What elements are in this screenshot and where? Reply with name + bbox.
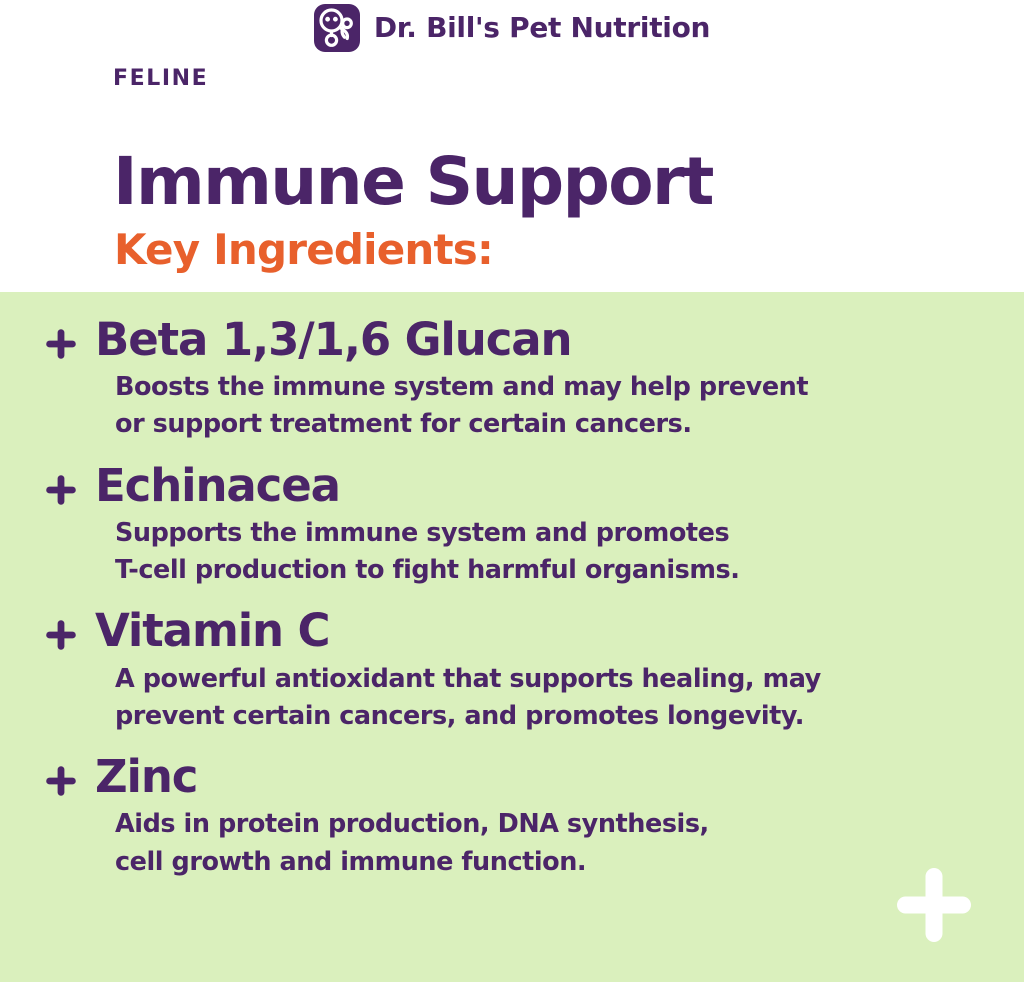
ingredient-heading: Zinc [44, 753, 1024, 800]
ingredient-heading: Echinacea [44, 462, 1024, 509]
ingredient-description: A powerful antioxidant that supports hea… [115, 661, 1005, 735]
product-ingredients-infographic: Dr. Bill's Pet Nutrition FELINE Immune S… [0, 0, 1024, 982]
ingredient-description: Boosts the immune system and may help pr… [115, 369, 1005, 443]
product-category-eyebrow: FELINE [113, 68, 208, 90]
ingredient-name: Echinacea [95, 462, 340, 509]
list-item: Zinc Aids in protein production, DNA syn… [0, 753, 1024, 881]
ingredients-section: Beta 1,3/1,6 Glucan Boosts the immune sy… [0, 292, 1024, 982]
ingredient-heading: Beta 1,3/1,6 Glucan [44, 316, 1024, 363]
brand-lockup: Dr. Bill's Pet Nutrition [0, 4, 1024, 52]
ingredient-name: Beta 1,3/1,6 Glucan [95, 316, 571, 363]
plus-icon [44, 764, 78, 798]
brand-name: Dr. Bill's Pet Nutrition [374, 14, 710, 42]
ingredient-list: Beta 1,3/1,6 Glucan Boosts the immune sy… [0, 316, 1024, 881]
page-title: Immune Support [113, 145, 713, 219]
ingredient-name: Vitamin C [95, 607, 329, 654]
plus-icon [44, 618, 78, 652]
list-item: Vitamin C A powerful antioxidant that su… [0, 607, 1024, 735]
plus-icon [44, 327, 78, 361]
stethoscope-face-logo-icon [314, 4, 360, 52]
ingredient-name: Zinc [95, 753, 197, 800]
ingredient-description: Supports the immune system and promotes … [115, 515, 1005, 589]
header-section: Dr. Bill's Pet Nutrition FELINE Immune S… [0, 0, 1024, 292]
ingredient-heading: Vitamin C [44, 607, 1024, 654]
list-item: Beta 1,3/1,6 Glucan Boosts the immune sy… [0, 316, 1024, 444]
ingredient-description: Aids in protein production, DNA synthesi… [115, 806, 1005, 880]
list-item: Echinacea Supports the immune system and… [0, 462, 1024, 590]
page-subtitle: Key Ingredients: [114, 226, 493, 274]
plus-icon [44, 473, 78, 507]
decorative-plus-icon [895, 866, 973, 944]
